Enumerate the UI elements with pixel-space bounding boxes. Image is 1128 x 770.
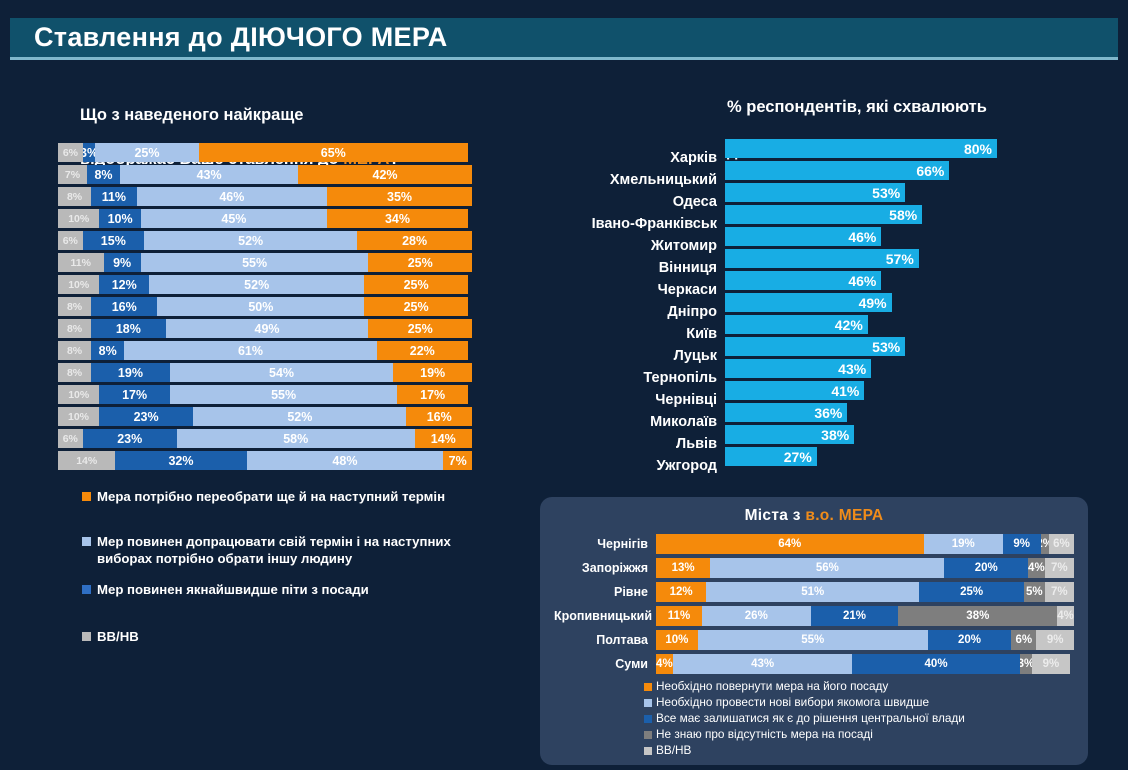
bar-segment: 15% <box>83 231 144 250</box>
city-bar: 27% <box>725 447 817 466</box>
bar-segment: 18% <box>91 319 166 338</box>
panel-bar-segment: 20% <box>928 630 1012 650</box>
city-bar-track: 58% <box>725 205 1065 224</box>
city-bar: 38% <box>725 425 854 444</box>
legend-label: ВВ/НВ <box>97 628 139 645</box>
panel-bar-segment: 7% <box>1045 558 1074 578</box>
bar-segment: 25% <box>95 143 199 162</box>
bar-segment: 11% <box>58 253 104 272</box>
panel-legend-label: Необхідно провести нові вибори якомога ш… <box>656 695 929 710</box>
panel-legend-item: Необхідно провести нові вибори якомога ш… <box>644 695 1084 710</box>
panel-bar-segment: 19% <box>924 534 1003 554</box>
stacked-bar-row: 8%18%49%25% <box>58 319 472 338</box>
legend-swatch <box>82 492 91 501</box>
panel-city-label: Чернігів <box>554 537 656 551</box>
bar-segment: 23% <box>99 407 193 426</box>
stacked-bar-row: 6%15%52%28% <box>58 231 472 250</box>
bar-segment: 49% <box>166 319 369 338</box>
bar-segment: 8% <box>91 341 124 360</box>
panel-bar-row: Кропивницький11%26%21%38%4% <box>554 605 1074 626</box>
city-bar: 57% <box>725 249 919 268</box>
bar-segment: 25% <box>364 275 468 294</box>
panel-bar-segment: 43% <box>673 654 853 674</box>
bar-segment: 17% <box>99 385 169 404</box>
stacked-bar-row: 8%19%54%19% <box>58 363 472 382</box>
panel-legend-swatch <box>644 699 652 707</box>
panel-bar-segment: 3% <box>1020 654 1033 674</box>
panel-bar-segment: 9% <box>1036 630 1074 650</box>
panel-city-label: Кропивницький <box>554 609 656 623</box>
city-bar-row: Луцьк53% <box>520 336 1065 357</box>
city-bar-track: 80% <box>725 139 1065 158</box>
bar-segment: 46% <box>137 187 327 206</box>
panel-bar-segment: 56% <box>710 558 944 578</box>
legend-item: ВВ/НВ <box>82 628 482 645</box>
city-bar-row: Житомир46% <box>520 226 1065 247</box>
stacked-bar-row: 10%17%55%17% <box>58 385 472 404</box>
bar-segment: 25% <box>368 253 472 272</box>
panel-bar-segment: 51% <box>706 582 919 602</box>
city-bar-row: Вінниця57% <box>520 248 1065 269</box>
stacked-bar-row: 10%23%52%16% <box>58 407 472 426</box>
bar-segment: 6% <box>58 429 83 448</box>
legend-swatch <box>82 537 91 546</box>
slide-root: Ставлення до ДІЮЧОГО МЕРА Що з наведеног… <box>0 0 1128 770</box>
bar-segment: 19% <box>91 363 170 382</box>
panel-bar-segment: 26% <box>702 606 811 626</box>
bar-segment: 58% <box>177 429 415 448</box>
bar-segment: 65% <box>199 143 468 162</box>
panel-legend-item: Все має залишатися як є до рішення центр… <box>644 711 1084 726</box>
city-bar: 53% <box>725 183 905 202</box>
panel-bar-segment: 9% <box>1003 534 1041 554</box>
panel-bar-segment: 4% <box>1028 558 1045 578</box>
panel-bar-segment: 13% <box>656 558 710 578</box>
panel-bar-segment: 64% <box>656 534 924 554</box>
stacked-bar-row: 8%8%61%22% <box>58 341 472 360</box>
bar-segment: 17% <box>397 385 467 404</box>
city-bar: 41% <box>725 381 864 400</box>
panel-bar-row: Чернігів64%19%9%2%6% <box>554 533 1074 554</box>
stacked-bar-row: 10%10%45%34% <box>58 209 472 228</box>
page-title: Ставлення до ДІЮЧОГО МЕРА <box>10 22 448 53</box>
bar-segment: 6% <box>58 143 83 162</box>
panel-bar-segment: 21% <box>811 606 899 626</box>
mayor-approval-chart: Харків80%Хмельницький66%Одеса53%Івано-Фр… <box>520 138 1065 468</box>
city-label: Ужгород <box>520 458 725 474</box>
bar-segment: 9% <box>104 253 141 272</box>
panel-legend-item: Необхідно повернути мера на його посаду <box>644 679 1084 694</box>
acting-mayor-panel: Міста з в.о. МЕРА Чернігів64%19%9%2%6%За… <box>540 497 1088 765</box>
stacked-bar-row: 8%16%50%25% <box>58 297 472 316</box>
panel-legend-label: Необхідно повернути мера на його посаду <box>656 679 888 694</box>
panel-stacked-bar: 10%55%20%6%9% <box>656 630 1074 650</box>
acting-mayor-cities-chart: Чернігів64%19%9%2%6%Запоріжжя13%56%20%4%… <box>554 533 1074 677</box>
bar-segment: 8% <box>58 363 91 382</box>
bar-segment: 43% <box>120 165 298 184</box>
panel-legend-swatch <box>644 715 652 723</box>
bar-segment: 3% <box>83 143 95 162</box>
panel-stacked-bar: 11%26%21%38%4% <box>656 606 1074 626</box>
panel-bar-segment: 11% <box>656 606 702 626</box>
city-bar: 58% <box>725 205 922 224</box>
panel-bar-row: Суми4%43%40%3%9% <box>554 653 1074 674</box>
panel-title-text: Міста з <box>745 507 806 524</box>
bar-segment: 48% <box>247 451 444 470</box>
stacked-bar-row: 10%12%52%25% <box>58 275 472 294</box>
city-bar-track: 36% <box>725 403 1065 422</box>
city-bar: 36% <box>725 403 847 422</box>
panel-bar-segment: 2% <box>1041 534 1049 554</box>
panel-legend-swatch <box>644 731 652 739</box>
panel-bar-segment: 25% <box>919 582 1024 602</box>
city-bar-track: 66% <box>725 161 1065 180</box>
panel-legend-label: Все має залишатися як є до рішення центр… <box>656 711 965 726</box>
legend-label: Мера потрібно переобрати ще й на наступн… <box>97 488 445 505</box>
city-bar-row: Дніпро49% <box>520 292 1065 313</box>
panel-bar-segment: 10% <box>656 630 698 650</box>
bar-segment: 23% <box>83 429 177 448</box>
bar-segment: 55% <box>170 385 398 404</box>
panel-title: Міста з в.о. МЕРА <box>540 497 1088 525</box>
city-bar-track: 27% <box>725 447 1065 466</box>
stacked-bar-row: 6%23%58%14% <box>58 429 472 448</box>
bar-segment: 8% <box>58 297 91 316</box>
city-bar: 80% <box>725 139 997 158</box>
panel-legend-swatch <box>644 747 652 755</box>
bar-segment: 32% <box>115 451 246 470</box>
slide-title-bar: Ставлення до ДІЮЧОГО МЕРА <box>10 18 1118 60</box>
panel-bar-segment: 9% <box>1032 654 1070 674</box>
panel-stacked-bar: 4%43%40%3%9% <box>656 654 1074 674</box>
panel-bar-segment: 12% <box>656 582 706 602</box>
bar-segment: 11% <box>91 187 137 206</box>
city-bar-track: 53% <box>725 183 1065 202</box>
attitude-chart-legend: Мера потрібно переобрати ще й на наступн… <box>82 488 482 645</box>
bar-segment: 10% <box>58 209 99 228</box>
city-bar: 42% <box>725 315 868 334</box>
panel-legend-swatch <box>644 683 652 691</box>
legend-item: Мер повинен допрацювати свій термін і на… <box>82 533 482 567</box>
city-bar-row: Одеса53% <box>520 182 1065 203</box>
city-bar: 53% <box>725 337 905 356</box>
panel-legend-label: Не знаю про відсутність мера на посаді <box>656 727 873 742</box>
bar-segment: 8% <box>58 319 91 338</box>
legend-item: Мер повинен якнайшвидше піти з посади <box>82 581 482 598</box>
panel-stacked-bar: 13%56%20%4%7% <box>656 558 1074 578</box>
city-bar: 43% <box>725 359 871 378</box>
panel-title-highlight: в.о. МЕРА <box>805 507 883 524</box>
bar-segment: 7% <box>443 451 472 470</box>
bar-segment: 61% <box>124 341 377 360</box>
panel-bar-segment: 38% <box>898 606 1057 626</box>
bar-segment: 10% <box>58 407 99 426</box>
stacked-bar-row: 7%8%43%42% <box>58 165 472 184</box>
bar-segment: 52% <box>149 275 364 294</box>
bar-segment: 16% <box>91 297 157 316</box>
bar-segment: 10% <box>58 275 99 294</box>
bar-segment: 16% <box>406 407 472 426</box>
bar-segment: 12% <box>99 275 149 294</box>
bar-segment: 6% <box>58 231 83 250</box>
city-bar-track: 53% <box>725 337 1065 356</box>
city-bar-row: Івано-Франківськ58% <box>520 204 1065 225</box>
city-bar-track: 46% <box>725 227 1065 246</box>
panel-legend-label: ВВ/НВ <box>656 743 691 758</box>
city-bar: 46% <box>725 227 881 246</box>
bar-segment: 10% <box>99 209 140 228</box>
panel-stacked-bar: 12%51%25%5%7% <box>656 582 1074 602</box>
panel-bar-segment: 55% <box>698 630 928 650</box>
left-heading-line1: Що з наведеного найкраще <box>80 106 303 124</box>
city-bar-row: Львів38% <box>520 424 1065 445</box>
panel-city-label: Рівне <box>554 585 656 599</box>
bar-segment: 10% <box>58 385 99 404</box>
bar-segment: 28% <box>357 231 472 250</box>
bar-segment: 8% <box>58 341 91 360</box>
acting-mayor-legend: Необхідно повернути мера на його посадуН… <box>644 679 1084 759</box>
bar-segment: 50% <box>157 297 364 316</box>
bar-segment: 55% <box>141 253 369 272</box>
panel-bar-row: Полтава10%55%20%6%9% <box>554 629 1074 650</box>
bar-segment: 8% <box>87 165 120 184</box>
panel-bar-segment: 4% <box>656 654 673 674</box>
city-bar-row: Київ42% <box>520 314 1065 335</box>
city-bar-row: Ужгород27% <box>520 446 1065 467</box>
panel-stacked-bar: 64%19%9%2%6% <box>656 534 1074 554</box>
city-bar-row: Миколаїв36% <box>520 402 1065 423</box>
right-heading-line1: % респондентів, які схвалюють <box>727 98 987 116</box>
legend-label: Мер повинен допрацювати свій термін і на… <box>97 533 482 567</box>
city-bar-track: 49% <box>725 293 1065 312</box>
stacked-bar-row: 6%3%25%65% <box>58 143 472 162</box>
panel-city-label: Полтава <box>554 633 656 647</box>
panel-legend-item: ВВ/НВ <box>644 743 1084 758</box>
bar-segment: 25% <box>364 297 468 316</box>
bar-segment: 34% <box>327 209 468 228</box>
bar-segment: 8% <box>58 187 91 206</box>
panel-bar-segment: 4% <box>1057 606 1074 626</box>
bar-segment: 14% <box>415 429 472 448</box>
bar-segment: 35% <box>327 187 472 206</box>
stacked-bar-row: 8%11%46%35% <box>58 187 472 206</box>
city-bar-row: Черкаси46% <box>520 270 1065 291</box>
city-bar-track: 42% <box>725 315 1065 334</box>
city-bar: 66% <box>725 161 949 180</box>
legend-label: Мер повинен якнайшвидше піти з посади <box>97 581 369 598</box>
city-bar-track: 43% <box>725 359 1065 378</box>
bar-segment: 45% <box>141 209 327 228</box>
panel-bar-row: Запоріжжя13%56%20%4%7% <box>554 557 1074 578</box>
panel-bar-segment: 6% <box>1049 534 1074 554</box>
legend-item: Мера потрібно переобрати ще й на наступн… <box>82 488 482 505</box>
panel-legend-item: Не знаю про відсутність мера на посаді <box>644 727 1084 742</box>
city-bar: 49% <box>725 293 892 312</box>
bar-segment: 54% <box>170 363 394 382</box>
city-bar-row: Хмельницький66% <box>520 160 1065 181</box>
attitude-stacked-chart: 6%3%25%65%7%8%43%42%8%11%46%35%10%10%45%… <box>58 143 472 473</box>
city-bar-track: 38% <box>725 425 1065 444</box>
city-bar: 46% <box>725 271 881 290</box>
legend-swatch <box>82 585 91 594</box>
bar-segment: 42% <box>298 165 472 184</box>
panel-city-label: Запоріжжя <box>554 561 656 575</box>
bar-segment: 14% <box>58 451 115 470</box>
bar-segment: 25% <box>368 319 472 338</box>
bar-segment: 52% <box>144 231 357 250</box>
city-bar-row: Чернівці41% <box>520 380 1065 401</box>
panel-bar-segment: 7% <box>1045 582 1074 602</box>
bar-segment: 19% <box>393 363 472 382</box>
stacked-bar-row: 14%32%48%7% <box>58 451 472 470</box>
bar-segment: 22% <box>377 341 468 360</box>
panel-bar-row: Рівне12%51%25%5%7% <box>554 581 1074 602</box>
panel-bar-segment: 5% <box>1024 582 1045 602</box>
city-bar-track: 57% <box>725 249 1065 268</box>
city-bar-row: Харків80% <box>520 138 1065 159</box>
panel-bar-segment: 6% <box>1011 630 1036 650</box>
city-bar-track: 46% <box>725 271 1065 290</box>
city-bar-track: 41% <box>725 381 1065 400</box>
panel-city-label: Суми <box>554 657 656 671</box>
stacked-bar-row: 11%9%55%25% <box>58 253 472 272</box>
city-bar-row: Тернопіль43% <box>520 358 1065 379</box>
panel-bar-segment: 40% <box>852 654 1019 674</box>
bar-segment: 52% <box>193 407 406 426</box>
legend-swatch <box>82 632 91 641</box>
bar-segment: 7% <box>58 165 87 184</box>
panel-bar-segment: 20% <box>944 558 1028 578</box>
